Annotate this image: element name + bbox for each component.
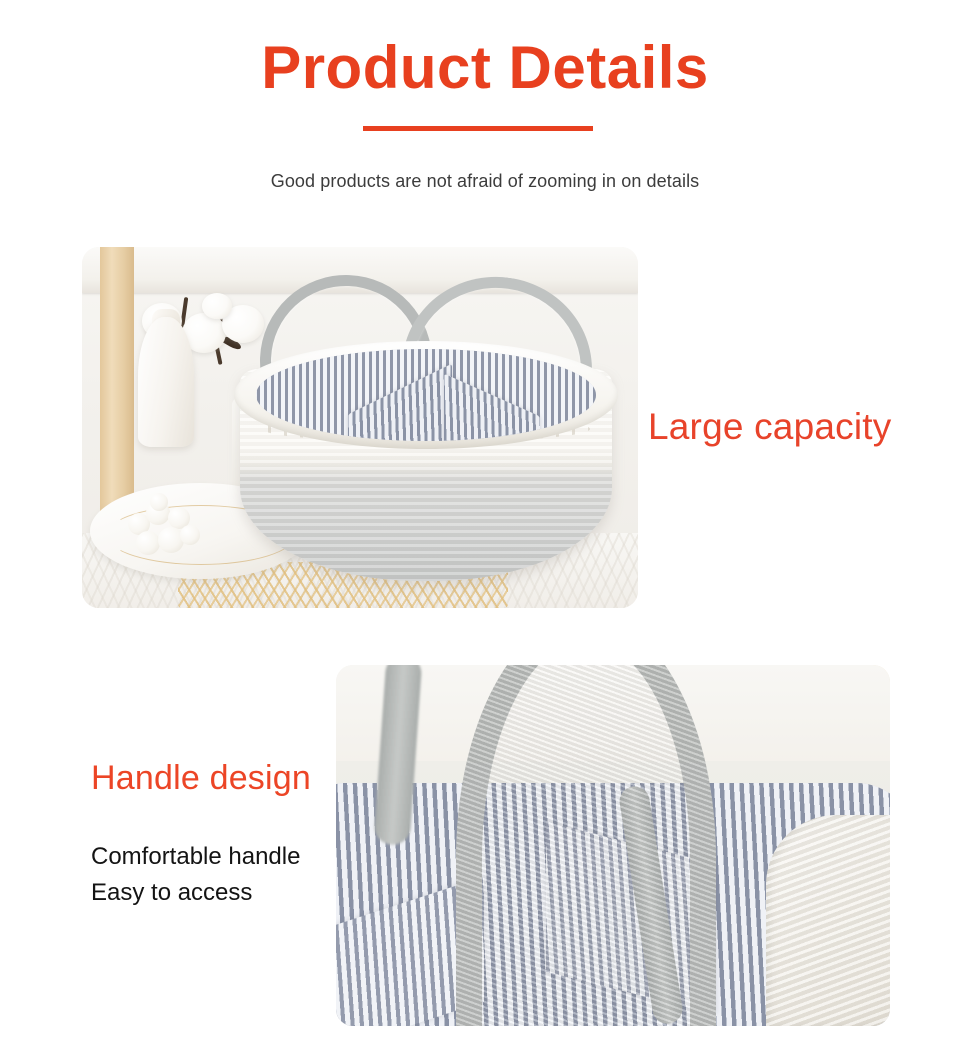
handle-rope-braid-texture [456,665,716,1026]
wood-frame-edge [100,247,134,512]
feature-label-handle-design: Handle design [91,760,336,797]
title-underline-accent [363,126,593,131]
feature-label-large-capacity: Large capacity [648,406,891,448]
feature-description-line-1: Comfortable handle [91,839,336,875]
rope-texture [766,815,890,1026]
page-title: Product Details [0,33,970,102]
feature-description-line-2: Easy to access [91,875,336,911]
page-subtitle: Good products are not afraid of zooming … [0,171,970,192]
rope-basket [214,283,634,601]
product-photo-handle-design [336,665,890,1026]
product-photo-large-capacity [82,247,638,608]
photo-scene-handle-closeup [336,665,890,1026]
bubble-candle [128,493,202,557]
ceramic-vase [138,317,194,447]
feature-text-block-handle-design: Handle design Comfortable handle Easy to… [91,760,336,911]
basket-rim-right [766,815,890,1026]
photo-scene-basket [82,247,638,608]
basket-interior-liner [256,349,596,441]
